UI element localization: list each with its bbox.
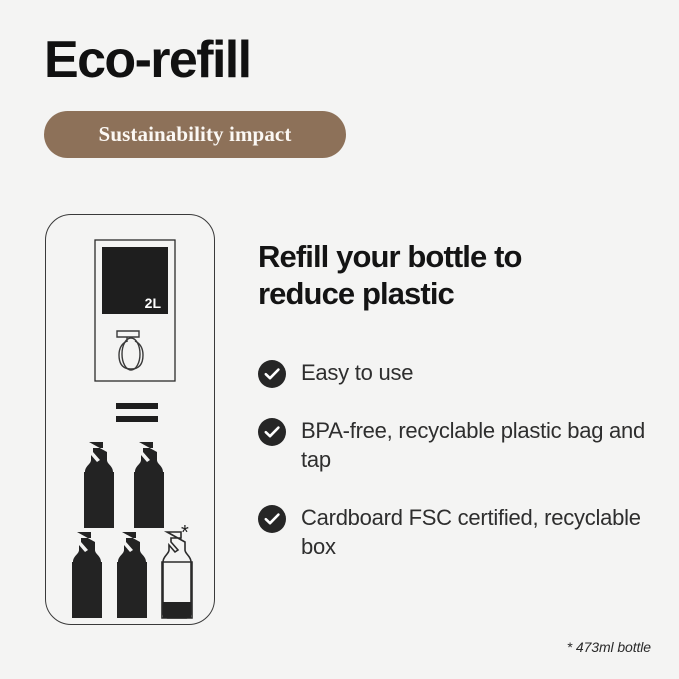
page-title: Eco-refill: [44, 33, 251, 88]
spray-bottle-row-bottom: *: [72, 522, 192, 618]
section-headline: Refill your bottle to reduce plastic: [258, 238, 618, 312]
refill-illustration: 2L: [45, 214, 215, 625]
spray-bottle-outline-icon: [162, 532, 192, 618]
asterisk-marker: *: [181, 522, 189, 544]
list-item-label: Easy to use: [301, 358, 413, 387]
footnote: * 473ml bottle: [567, 639, 651, 655]
tap-icon: [117, 331, 143, 370]
box-volume-label: 2L: [145, 295, 162, 311]
spray-bottle-filled-icon: [72, 532, 147, 618]
infographic-page: Eco-refill Sustainability impact 2L: [0, 0, 679, 679]
list-item-label: Cardboard FSC certified, recyclable box: [301, 503, 653, 562]
check-circle-icon: [258, 360, 286, 388]
list-item-label: BPA-free, recyclable plastic bag and tap: [301, 416, 653, 475]
status-badge-label: Sustainability impact: [99, 122, 292, 147]
list-item: Easy to use: [258, 358, 653, 388]
list-item: Cardboard FSC certified, recyclable box: [258, 503, 653, 562]
spray-bottle-filled-icon: [84, 442, 164, 528]
list-item: BPA-free, recyclable plastic bag and tap: [258, 416, 653, 475]
status-badge: Sustainability impact: [44, 111, 346, 158]
check-circle-icon: [258, 505, 286, 533]
check-circle-icon: [258, 418, 286, 446]
benefit-list: Easy to use BPA-free, recyclable plastic…: [258, 358, 653, 561]
equals-sign: [116, 403, 158, 422]
